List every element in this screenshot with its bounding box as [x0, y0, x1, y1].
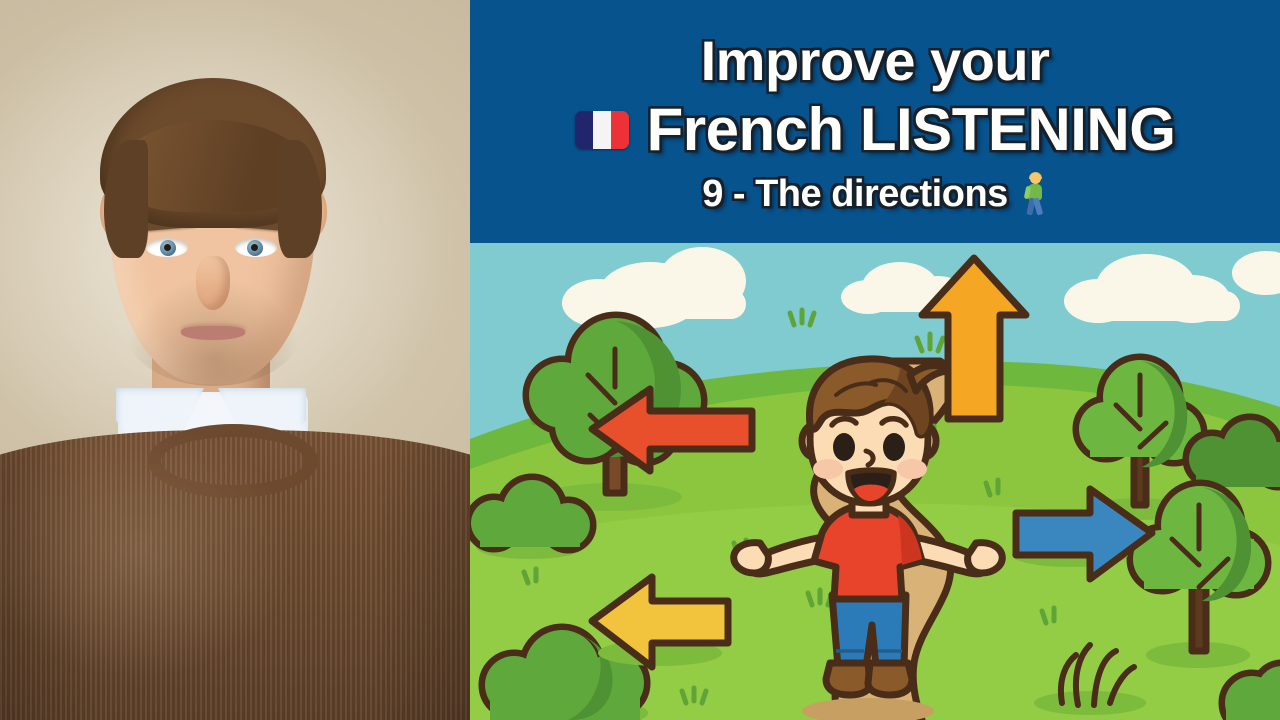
illustration-svg: .ol{ stroke:#4A2D18; stroke-width:7; str… [470, 243, 1280, 720]
presenter-mouth [181, 326, 245, 340]
title-line-2-text: French LISTENING [647, 95, 1176, 165]
french-flag-icon [575, 111, 629, 149]
thumbnail-stage: Improve your French LISTENING 9 - The di… [0, 0, 1280, 720]
content-panel: Improve your French LISTENING 9 - The di… [470, 0, 1280, 720]
presenter-pupil-right [251, 244, 258, 251]
title-line-3: 9 - The directions [702, 169, 1048, 219]
presenter-photo [0, 0, 470, 720]
title-banner: Improve your French LISTENING 9 - The di… [470, 0, 1280, 243]
presenter-nose [196, 256, 230, 310]
title-line-2: French LISTENING [575, 95, 1176, 165]
directions-illustration: .ol{ stroke:#4A2D18; stroke-width:7; str… [470, 243, 1280, 720]
sweater-shading [0, 430, 470, 720]
person-walking-icon [1022, 173, 1048, 215]
title-line-3-text: 9 - The directions [702, 169, 1008, 219]
title-line-1: Improve your [701, 29, 1050, 93]
presenter-pupil-left [164, 244, 171, 251]
